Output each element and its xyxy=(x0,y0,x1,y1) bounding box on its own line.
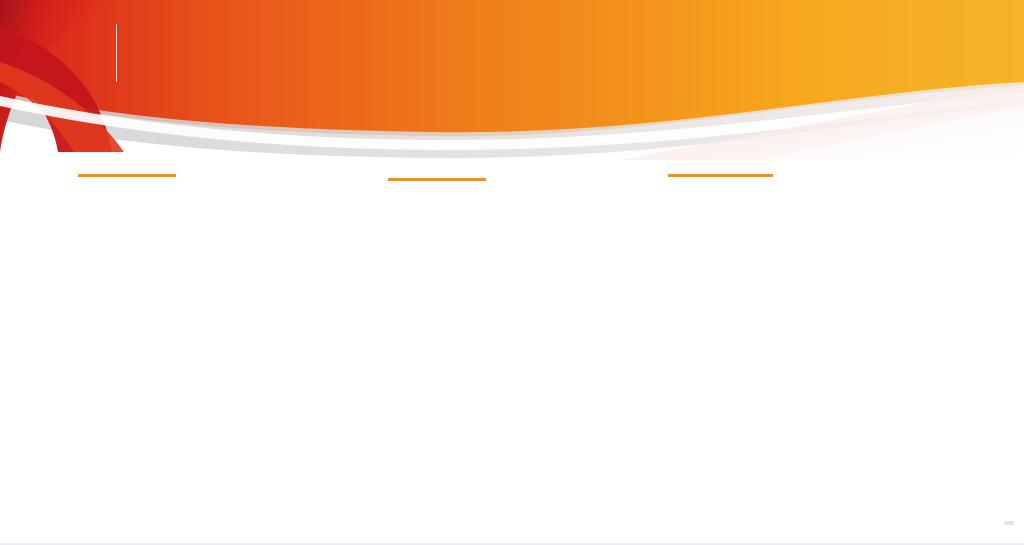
banner-artwork xyxy=(0,0,1024,160)
staff-circle-cluster xyxy=(655,222,995,507)
section-heading-history xyxy=(372,172,486,181)
profile-underline xyxy=(78,174,176,177)
section-heading-profile xyxy=(62,168,176,177)
logo-divider xyxy=(116,24,117,82)
staff-title-row xyxy=(652,169,773,171)
logo-block xyxy=(100,22,133,84)
poster-canvas xyxy=(0,0,1024,545)
history-underline xyxy=(388,178,486,181)
section-heading-staff xyxy=(652,168,773,177)
timeline xyxy=(340,232,630,502)
header-banner xyxy=(0,0,1024,160)
profile-title-row xyxy=(62,169,176,171)
history-title-row xyxy=(372,173,486,175)
color-swatch-grid xyxy=(57,388,280,508)
id-tag xyxy=(1004,521,1014,525)
staff-underline xyxy=(668,174,773,177)
